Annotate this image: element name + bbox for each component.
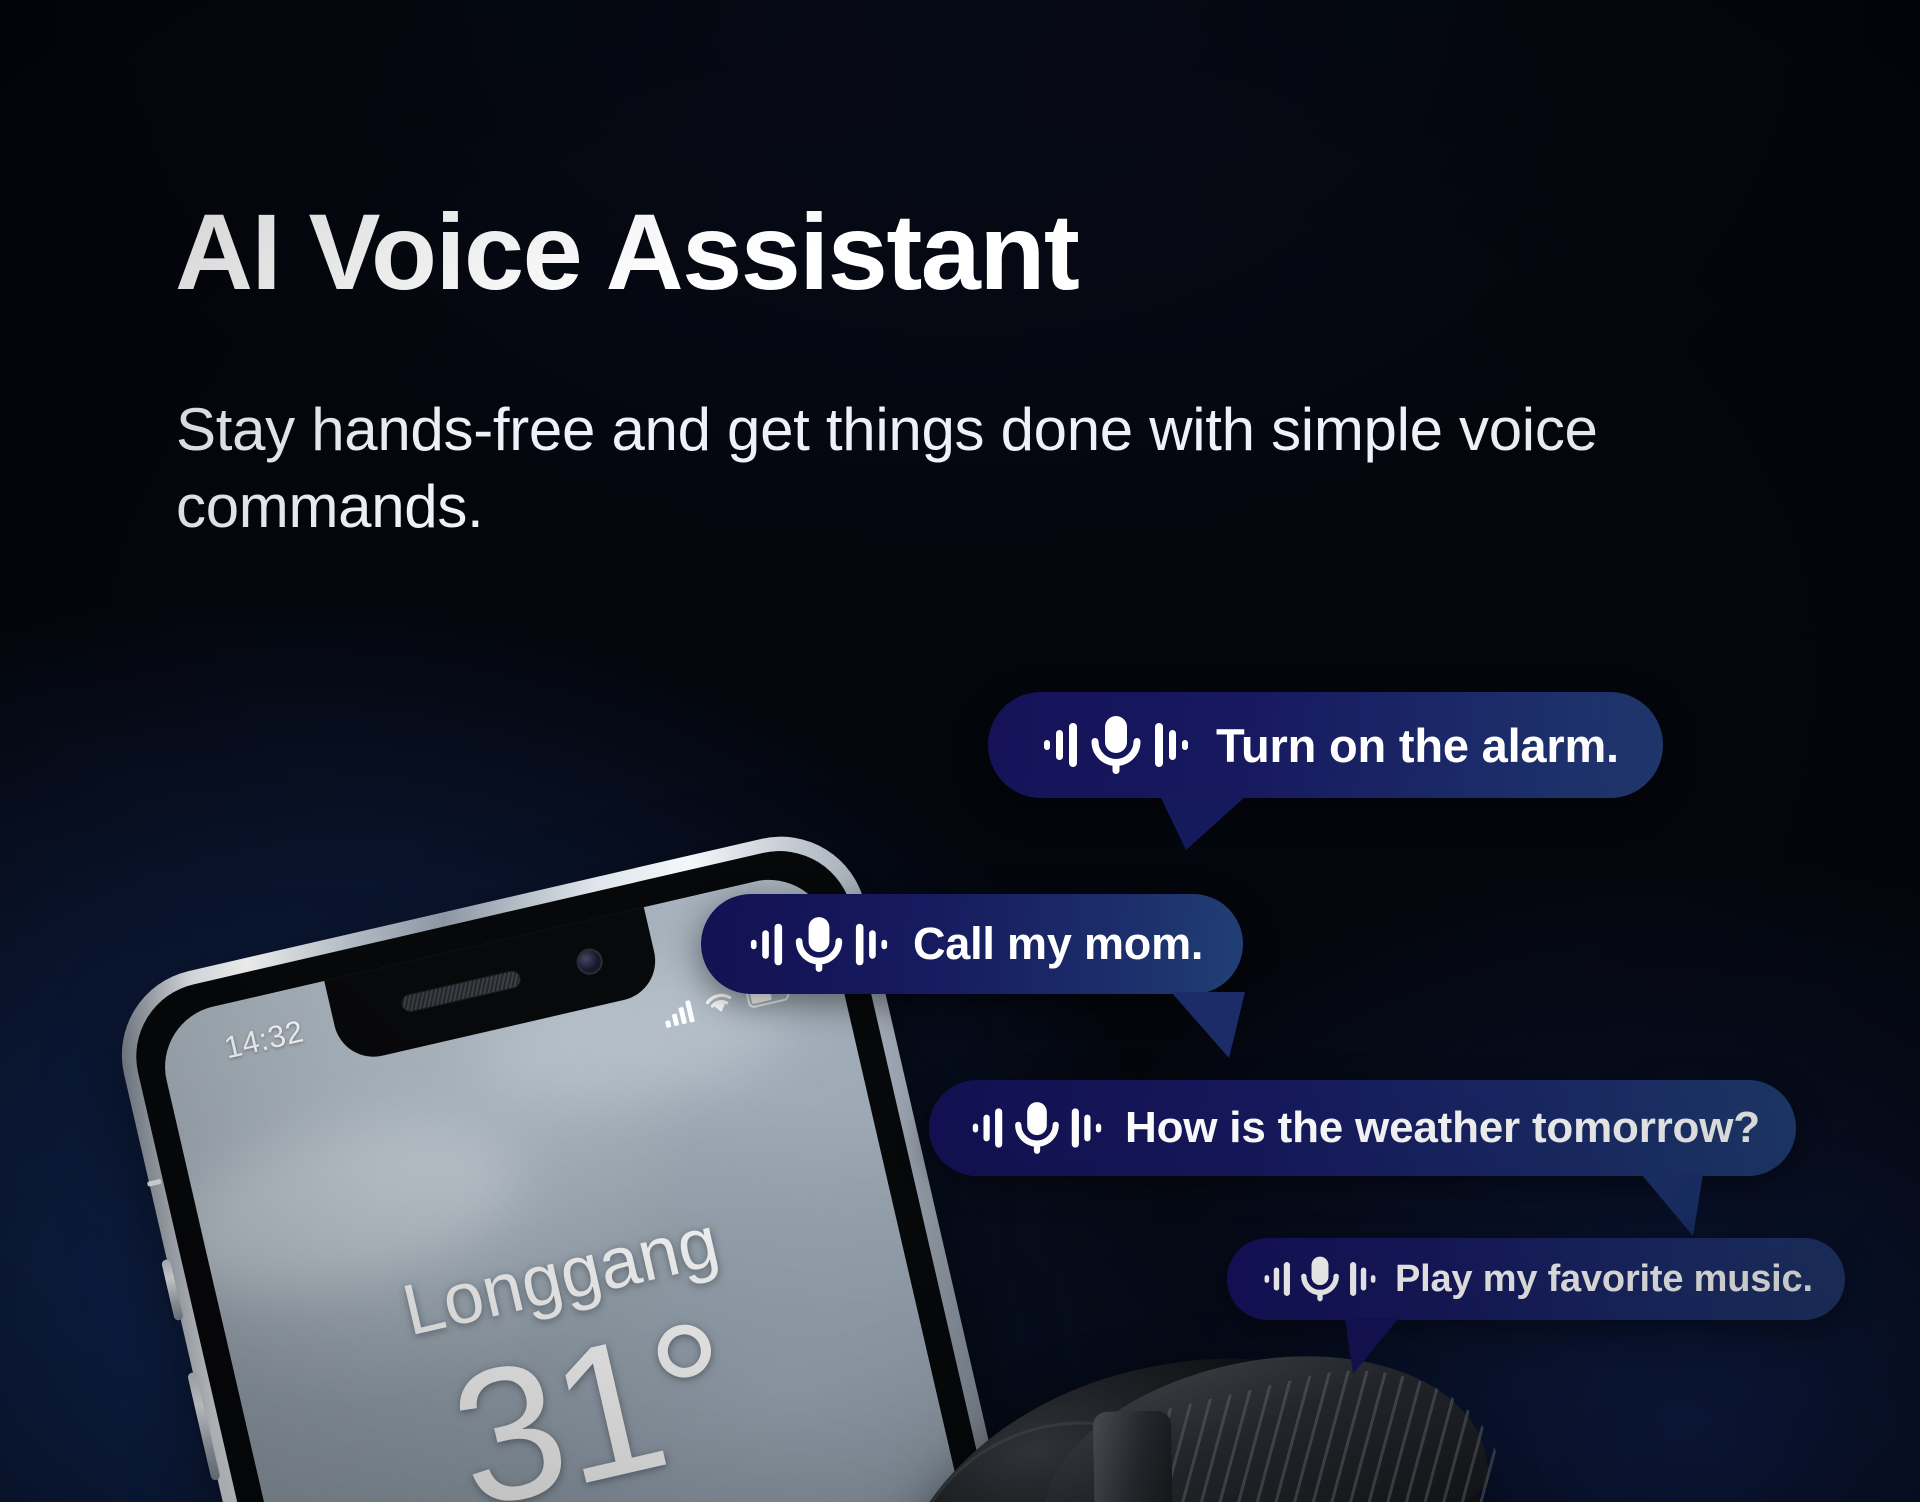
earbuds-case-hinge bbox=[1093, 1411, 1175, 1502]
bubble-tail bbox=[1641, 1174, 1703, 1236]
voice-command-text: Call my mom. bbox=[913, 918, 1203, 970]
voice-command-bubble-music[interactable]: Play my favorite music. bbox=[1227, 1238, 1845, 1320]
voice-command-bubble-weather[interactable]: How is the weather tomorrow? bbox=[929, 1080, 1796, 1176]
page-title: AI Voice Assistant bbox=[175, 195, 1078, 308]
voice-command-text: Play my favorite music. bbox=[1395, 1258, 1813, 1301]
bubble-tail bbox=[1171, 992, 1245, 1058]
promo-banner: AI Voice Assistant Stay hands-free and g… bbox=[0, 0, 1920, 1502]
voice-command-bubble-alarm[interactable]: Turn on the alarm. bbox=[988, 692, 1663, 798]
voice-command-bubble-call[interactable]: Call my mom. bbox=[701, 894, 1243, 994]
page-subtitle: Stay hands-free and get things done with… bbox=[176, 392, 1856, 546]
bubble-tail bbox=[1160, 796, 1246, 850]
microphone-waveform-icon bbox=[971, 1100, 1103, 1156]
front-camera-icon bbox=[574, 946, 605, 977]
cellular-signal-icon bbox=[662, 1000, 695, 1028]
earbuds-charging-case bbox=[852, 1295, 1668, 1502]
microphone-waveform-icon bbox=[1042, 714, 1190, 776]
earpiece-speaker-icon bbox=[400, 969, 523, 1014]
bubble-tail bbox=[1345, 1318, 1399, 1374]
microphone-waveform-icon bbox=[749, 915, 889, 974]
voice-command-text: Turn on the alarm. bbox=[1216, 718, 1619, 773]
microphone-waveform-icon bbox=[1263, 1255, 1377, 1303]
status-bar-time: 14:32 bbox=[221, 1013, 307, 1066]
voice-command-text: How is the weather tomorrow? bbox=[1125, 1103, 1760, 1153]
